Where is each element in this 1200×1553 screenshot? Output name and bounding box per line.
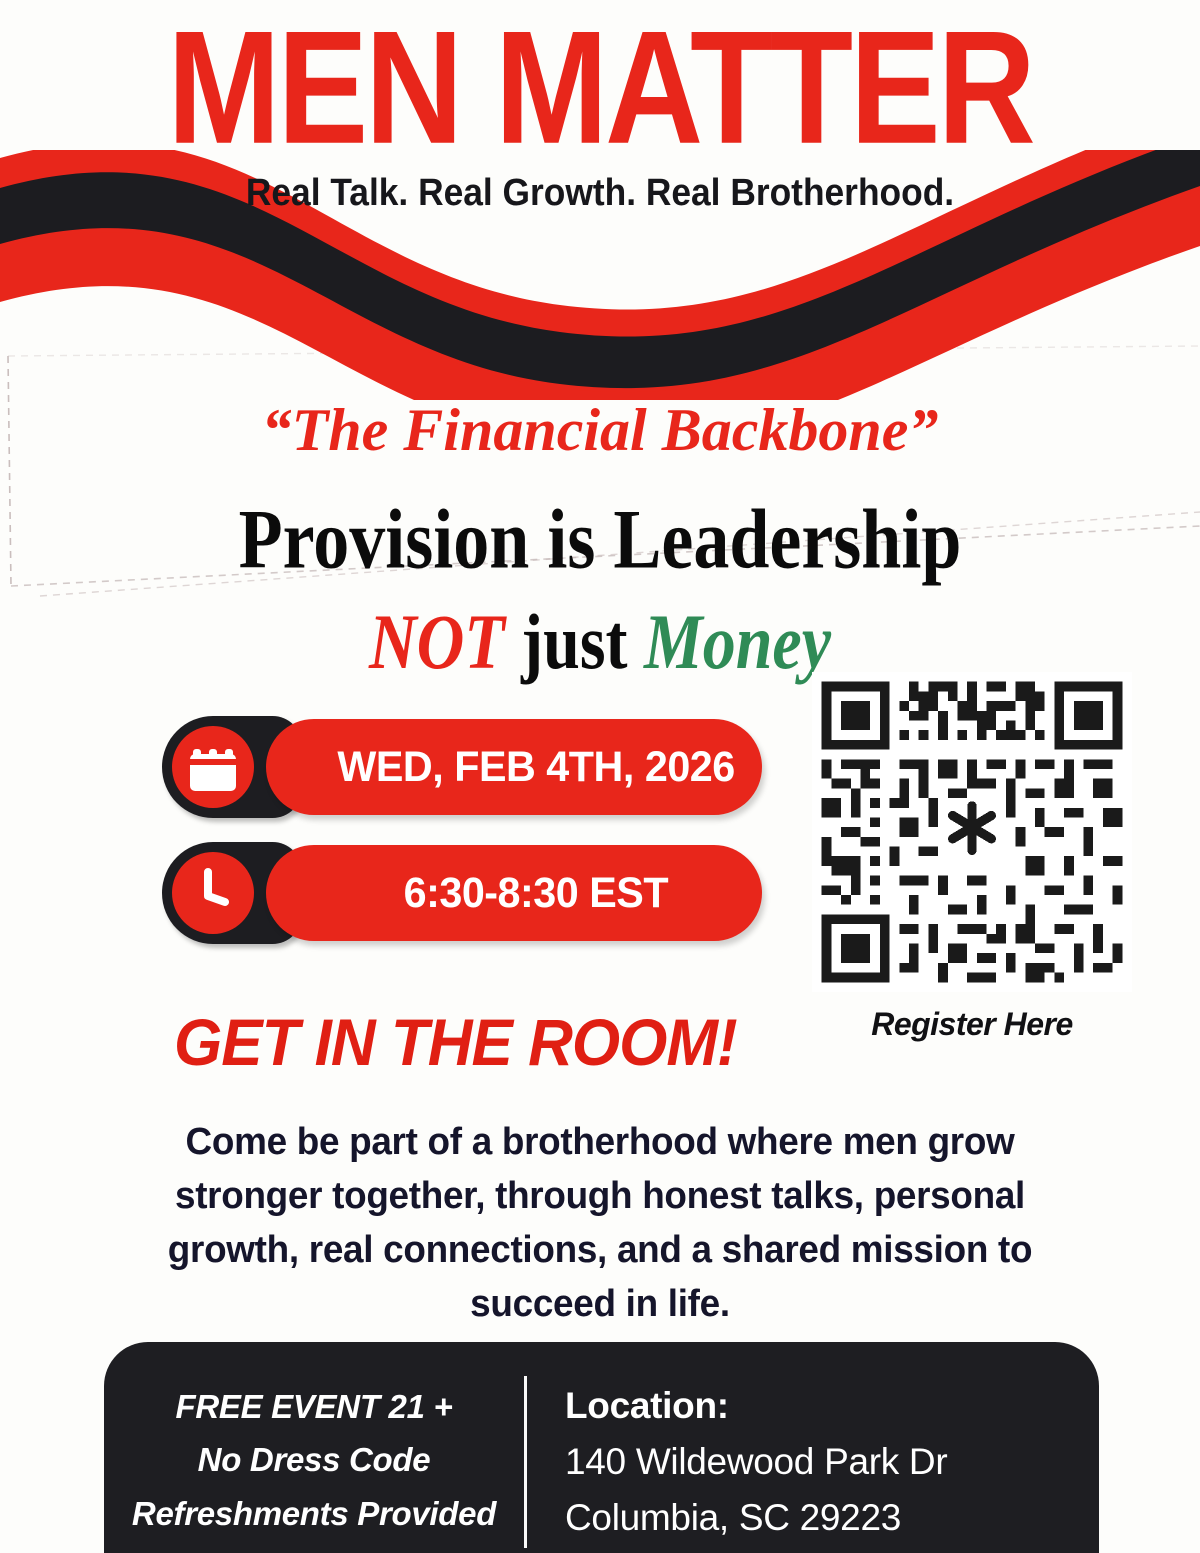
cta-headline: GET IN THE ROOM!: [174, 1006, 737, 1081]
qr-register-block[interactable]: Register Here: [812, 672, 1132, 1043]
date-value: WED, FEB 4TH, 2026: [293, 743, 735, 792]
footer-event-terms: FREE EVENT 21 + No Dress Code Refreshmen…: [104, 1342, 524, 1553]
calendar-icon: [172, 726, 254, 808]
location-label: Location:: [565, 1378, 1099, 1434]
headline-not-word: NOT: [369, 600, 505, 686]
headline-secondary: NOT just Money: [0, 570, 1200, 688]
footer-term-free: FREE EVENT 21 +: [104, 1380, 524, 1433]
flyer-canvas: MEN MATTER Real Talk. Real Growth. Real …: [0, 0, 1200, 1553]
address-line-2: Columbia, SC 29223: [565, 1490, 1099, 1546]
time-pill: 6:30-8:30 EST: [266, 845, 762, 941]
footer-term-refreshments: Refreshments Provided: [104, 1487, 524, 1540]
headline-zone: “The Financial Backbone” Provision is Le…: [0, 396, 1200, 670]
time-value: 6:30-8:30 EST: [360, 869, 669, 918]
headline-quote: “The Financial Backbone”: [0, 396, 1200, 465]
date-pill: WED, FEB 4TH, 2026: [266, 719, 762, 815]
address-line-1: 140 Wildewood Park Dr: [565, 1434, 1099, 1490]
footer-info-bar: FREE EVENT 21 + No Dress Code Refreshmen…: [104, 1342, 1099, 1553]
headline-just-word: just: [505, 600, 644, 686]
logo-tagline: Real Talk. Real Growth. Real Brotherhood…: [42, 138, 1158, 215]
logo-block: MEN MATTER Real Talk. Real Growth. Real …: [0, 0, 1200, 210]
event-description: Come be part of a brotherhood where men …: [154, 1116, 1046, 1332]
qr-code-icon[interactable]: [812, 672, 1132, 992]
footer-location-block: Location: 140 Wildewood Park Dr Columbia…: [527, 1342, 1099, 1553]
footer-term-dress: No Dress Code: [104, 1433, 524, 1486]
clock-icon: [172, 852, 254, 934]
qr-caption: Register Here: [812, 992, 1132, 1043]
headline-money-word: Money: [644, 600, 831, 686]
